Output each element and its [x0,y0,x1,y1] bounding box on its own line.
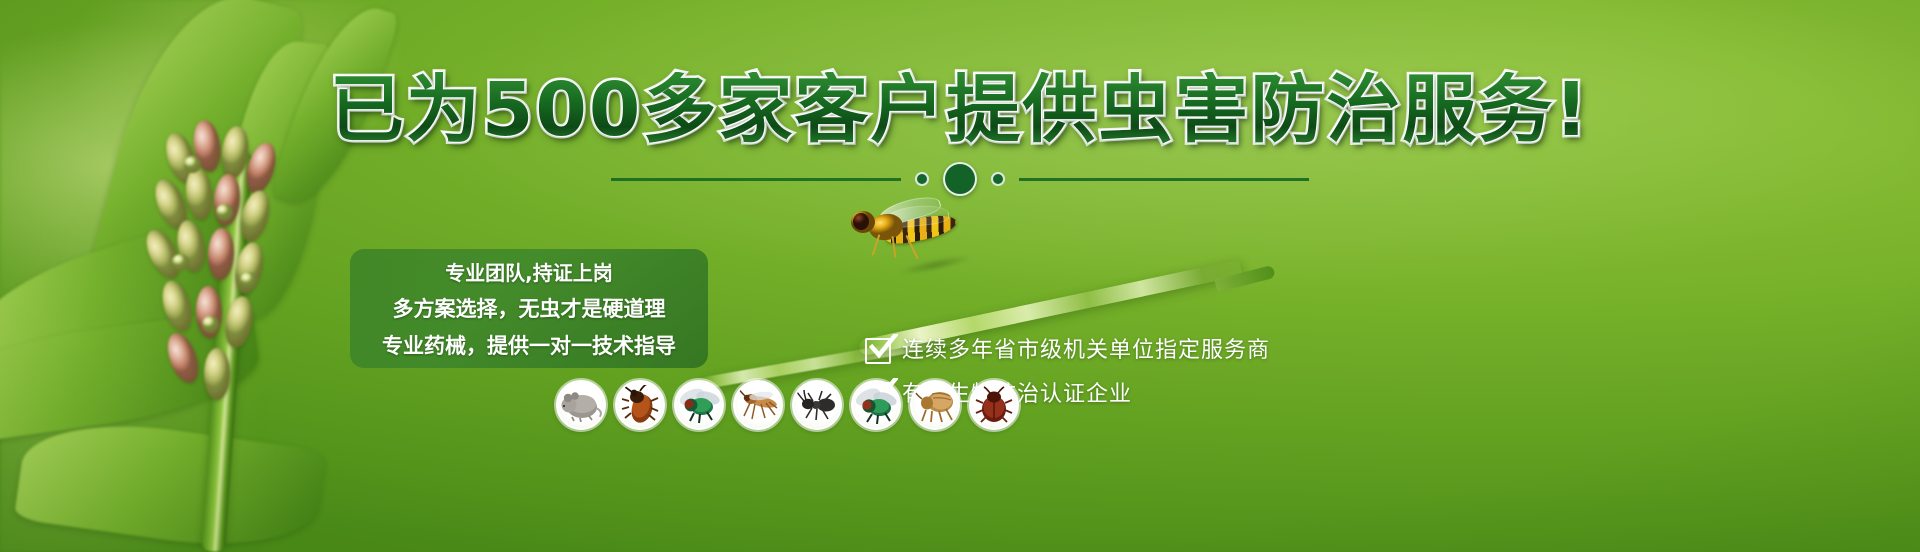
housefly-icon[interactable] [851,380,901,430]
bedbug-icon[interactable] [969,380,1019,430]
claims-line-2: 多方案选择，无虫才是硬道理 [393,293,666,323]
pest-icon-row [556,376,1016,434]
claims-line-3: 专业药械，提供一对一技术指导 [382,330,676,360]
divider-line-right [1019,178,1309,181]
dot-large-icon [943,162,977,196]
mouse-icon[interactable] [556,380,606,430]
claims-line-1: 专业团队,持证上岗 [445,257,613,286]
dot-small-icon [991,172,1005,186]
flea-icon[interactable] [910,380,960,430]
greenfly-icon[interactable] [674,380,724,430]
checkbox-checked-icon [865,338,891,364]
divider-line-left [611,178,901,181]
decorative-divider [0,160,1920,198]
ant-icon[interactable] [792,380,842,430]
mosquito-icon[interactable] [733,380,783,430]
promo-banner: 已为500多家客户提供虫害防治服务! 已为500多家客户提供虫害防治服务! 专业… [0,0,1920,552]
page-title: 已为500多家客户提供虫害防治服务! [0,72,1920,148]
cockroach-icon[interactable] [615,380,665,430]
claims-panel: 专业团队,持证上岗 多方案选择，无虫才是硬道理 专业药械，提供一对一技术指导 [350,249,708,368]
list-item: 连续多年省市级机关单位指定服务商 [865,338,1565,364]
certification-label: 连续多年省市级机关单位指定服务商 [902,338,1270,364]
dot-small-icon [915,172,929,186]
